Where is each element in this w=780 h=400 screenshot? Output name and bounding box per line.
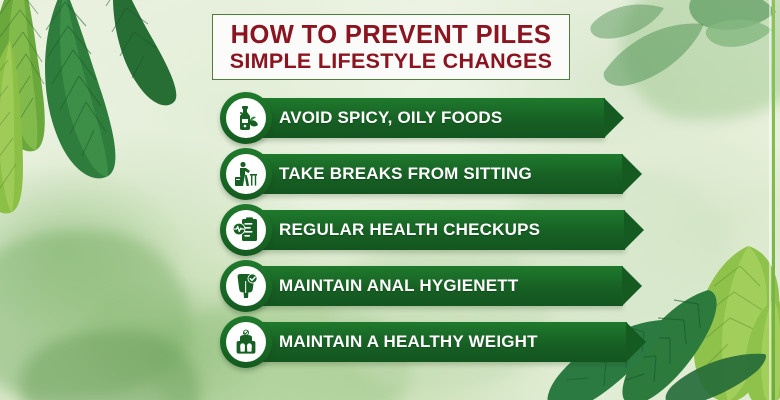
- tip-icon-badge[interactable]: [220, 204, 272, 256]
- person-standing-desk-icon: [226, 154, 266, 194]
- page-title: HOW TO PREVENT PILES: [231, 22, 552, 49]
- tip-row[interactable]: MAINTAIN ANAL HYGIENETT: [0, 260, 780, 316]
- tip-icon-badge[interactable]: [220, 92, 272, 144]
- hygiene-check-icon: [226, 266, 266, 306]
- tip-row[interactable]: AVOID SPICY, OILY FOODS: [0, 92, 780, 148]
- tip-label: AVOID SPICY, OILY FOODS: [279, 108, 502, 128]
- tip-icon-badge[interactable]: [220, 316, 272, 368]
- weight-scale-person-icon: [226, 322, 266, 362]
- tip-label: MAINTAIN ANAL HYGIENETT: [279, 276, 518, 296]
- tip-pill[interactable]: REGULAR HEALTH CHECKUPS: [243, 210, 625, 250]
- tip-pill[interactable]: MAINTAIN A HEALTHY WEIGHT: [243, 322, 627, 362]
- oil-bottle-chili-icon: [226, 98, 266, 138]
- tips-list: AVOID SPICY, OILY FOODS: [0, 92, 780, 372]
- tip-pill[interactable]: TAKE BREAKS FROM SITTING: [243, 154, 623, 194]
- infographic-canvas: HOW TO PREVENT PILES SIMPLE LIFESTYLE CH…: [0, 0, 780, 400]
- tip-label: TAKE BREAKS FROM SITTING: [279, 164, 532, 184]
- tip-row[interactable]: MAINTAIN A HEALTHY WEIGHT: [0, 316, 780, 372]
- tip-label: MAINTAIN A HEALTHY WEIGHT: [279, 332, 538, 352]
- tip-row[interactable]: TAKE BREAKS FROM SITTING: [0, 148, 780, 204]
- clipboard-heartbeat-icon: [226, 210, 266, 250]
- title-box: HOW TO PREVENT PILES SIMPLE LIFESTYLE CH…: [212, 14, 570, 80]
- leaf-top-right-c: [586, 0, 676, 64]
- tip-icon-badge[interactable]: [220, 260, 272, 312]
- page-subtitle: SIMPLE LIFESTYLE CHANGES: [230, 50, 553, 73]
- tip-pill[interactable]: AVOID SPICY, OILY FOODS: [243, 98, 605, 138]
- tip-label: REGULAR HEALTH CHECKUPS: [279, 220, 540, 240]
- tip-row[interactable]: REGULAR HEALTH CHECKUPS: [0, 204, 780, 260]
- tip-icon-badge[interactable]: [220, 148, 272, 200]
- tip-pill[interactable]: MAINTAIN ANAL HYGIENETT: [243, 266, 623, 306]
